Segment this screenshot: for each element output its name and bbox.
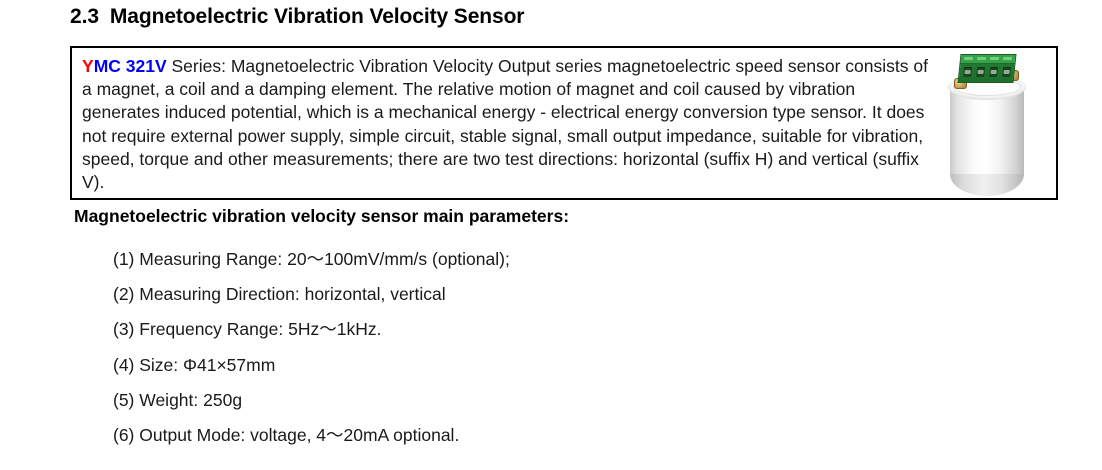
list-item: (2) Measuring Direction: horizontal, ver… xyxy=(113,277,913,312)
product-image xyxy=(928,48,1056,198)
section-number: 2.3 xyxy=(70,5,99,28)
headline-remainder: Series: Magnetoelectric Vibration Veloci… xyxy=(167,56,551,76)
terminal-port-3 xyxy=(989,67,998,77)
terminal-pin-4 xyxy=(1003,57,1012,60)
page-title: 2.3Magnetoelectric Vibration Velocity Se… xyxy=(70,5,524,29)
list-item: (5) Weight: 250g xyxy=(113,383,913,418)
terminal-pin-1 xyxy=(964,57,973,60)
sensor-cylinder-base xyxy=(950,174,1024,196)
product-description-box: YMC 321V Series: Magnetoelectric Vibrati… xyxy=(70,46,1058,200)
terminal-port-1 xyxy=(963,67,972,77)
sensor-illustration xyxy=(928,48,1056,198)
terminal-pin-2 xyxy=(977,57,986,60)
terminal-pin-3 xyxy=(990,57,999,60)
brand-prefix: Y xyxy=(82,56,94,76)
list-item: (1) Measuring Range: 20～100mV/mm/s (opti… xyxy=(113,242,913,277)
section-title: Magnetoelectric Vibration Velocity Senso… xyxy=(110,5,524,28)
brand-model: MC 321V xyxy=(94,56,167,76)
description-body: series magnetoelectric speed sensor cons… xyxy=(82,56,928,192)
terminal-port-2 xyxy=(976,67,985,77)
parameters-list: (1) Measuring Range: 20～100mV/mm/s (opti… xyxy=(113,242,913,453)
list-item: (3) Frequency Range: 5Hz～1kHz. xyxy=(113,312,913,347)
parameters-heading: Magnetoelectric vibration velocity senso… xyxy=(74,206,569,227)
terminal-port-4 xyxy=(1002,67,1011,77)
green-terminal-block xyxy=(957,54,1016,83)
list-item: (6) Output Mode: voltage, 4～20mA optiona… xyxy=(113,418,913,453)
description-paragraph: YMC 321V Series: Magnetoelectric Vibrati… xyxy=(82,55,930,194)
list-item: (4) Size: Φ41×57mm xyxy=(113,348,913,383)
